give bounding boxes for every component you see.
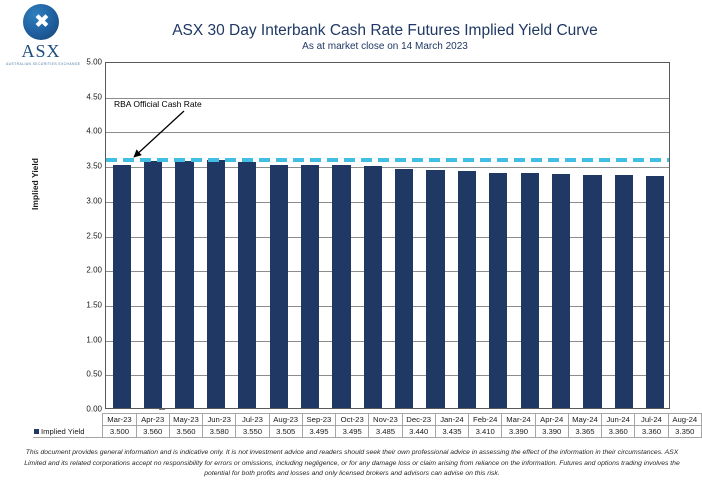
chart-plot-area: RBA Official Cash Rate	[105, 62, 670, 409]
disclaimer-footer: This document provides general informati…	[14, 448, 690, 480]
table-column-header: Jun-24	[602, 414, 635, 426]
y-axis-tick-label: 5.00	[66, 58, 102, 67]
y-axis-tick-label: 4.50	[66, 92, 102, 101]
table-column-header: May-24	[568, 414, 601, 426]
table-cell-implied-yield: 3.560	[169, 426, 202, 438]
bar	[364, 166, 382, 408]
table-column-header: Jan-24	[435, 414, 468, 426]
bar	[207, 160, 225, 408]
y-axis-tick-label: 0.50	[66, 370, 102, 379]
table-column-header: Aug-23	[269, 414, 302, 426]
table-column-header: Jul-23	[236, 414, 269, 426]
table-column-header: Dec-23	[402, 414, 435, 426]
bar	[583, 175, 601, 408]
y-axis-tick-label: 1.50	[66, 300, 102, 309]
bar	[144, 161, 162, 408]
legend-label: Implied Yield	[41, 427, 85, 436]
table-column-header: Apr-23	[136, 414, 169, 426]
bar	[270, 165, 288, 408]
table-row: Implied Yield 3.5003.5603.5603.5803.5503…	[33, 426, 702, 438]
y-axis-tick-label: 3.50	[66, 162, 102, 171]
y-axis-tick-label: 4.00	[66, 127, 102, 136]
gridline	[106, 132, 669, 133]
rba-cash-rate-reference-line	[106, 158, 669, 162]
rba-annotation-label: RBA Official Cash Rate	[114, 99, 202, 109]
table-column-header: Feb-24	[469, 414, 502, 426]
chart-title: ASX 30 Day Interbank Cash Rate Futures I…	[95, 22, 675, 40]
table-cell-implied-yield: 3.410	[469, 426, 502, 438]
table-cell-implied-yield: 3.360	[635, 426, 668, 438]
bar	[489, 173, 507, 408]
legend-swatch-icon	[34, 429, 39, 434]
table-cell-implied-yield: 3.365	[568, 426, 601, 438]
chart-subtitle: As at market close on 14 March 2023	[95, 41, 675, 52]
table-corner-cell	[33, 414, 103, 426]
table-cell-implied-yield: 3.495	[336, 426, 369, 438]
bar	[458, 171, 476, 408]
bar	[395, 169, 413, 408]
table-cell-implied-yield: 3.495	[302, 426, 335, 438]
rba-annotation-arrow	[124, 109, 188, 165]
table-cell-implied-yield: 3.505	[269, 426, 302, 438]
table-cell-implied-yield: 3.350	[668, 426, 701, 438]
table-column-header: Nov-23	[369, 414, 402, 426]
table-cell-implied-yield: 3.360	[602, 426, 635, 438]
bar	[175, 161, 193, 408]
y-axis-tick-labels: 5.004.504.003.503.002.502.001.501.000.50…	[60, 0, 102, 481]
table-column-header: Mar-24	[502, 414, 535, 426]
table-column-header: Sep-23	[302, 414, 335, 426]
bar	[113, 165, 131, 408]
y-axis-title: Implied Yield	[30, 158, 40, 210]
data-table: Mar-23Apr-23May-23Jun-23Jul-23Aug-23Sep-…	[33, 413, 702, 438]
bar	[426, 170, 444, 408]
table-cell-implied-yield: 3.390	[502, 426, 535, 438]
table-cell-implied-yield: 3.560	[136, 426, 169, 438]
bar	[521, 173, 539, 408]
table-column-header: Mar-23	[103, 414, 136, 426]
bar	[332, 165, 350, 408]
y-axis-tick-label: 1.00	[66, 335, 102, 344]
bar	[238, 162, 256, 408]
table-column-header: Apr-24	[535, 414, 568, 426]
bar	[552, 174, 570, 408]
asx-logo-mark: ✖	[23, 4, 59, 40]
table-column-header: May-23	[169, 414, 202, 426]
table-column-header: Aug-24	[668, 414, 701, 426]
y-axis-tick-label: 3.00	[66, 196, 102, 205]
y-axis-tick-label: 2.50	[66, 231, 102, 240]
bar	[301, 165, 319, 408]
table-cell-implied-yield: 3.435	[435, 426, 468, 438]
table-header-row: Mar-23Apr-23May-23Jun-23Jul-23Aug-23Sep-…	[33, 414, 702, 426]
y-axis-tick-mark	[159, 409, 165, 410]
y-axis-tick-label: 2.00	[66, 266, 102, 275]
table-column-header: Jun-23	[203, 414, 236, 426]
table-cell-implied-yield: 3.485	[369, 426, 402, 438]
table-column-header: Jul-24	[635, 414, 668, 426]
table-cell-implied-yield: 3.390	[535, 426, 568, 438]
asx-logo-glyph: ✖	[23, 13, 59, 32]
table-cell-implied-yield: 3.500	[103, 426, 136, 438]
bar	[615, 175, 633, 408]
table-column-header: Oct-23	[336, 414, 369, 426]
table-cell-implied-yield: 3.440	[402, 426, 435, 438]
table-cell-implied-yield: 3.550	[236, 426, 269, 438]
table-cell-implied-yield: 3.580	[203, 426, 236, 438]
table-row-header-implied-yield: Implied Yield	[33, 426, 103, 438]
bar	[646, 176, 664, 408]
